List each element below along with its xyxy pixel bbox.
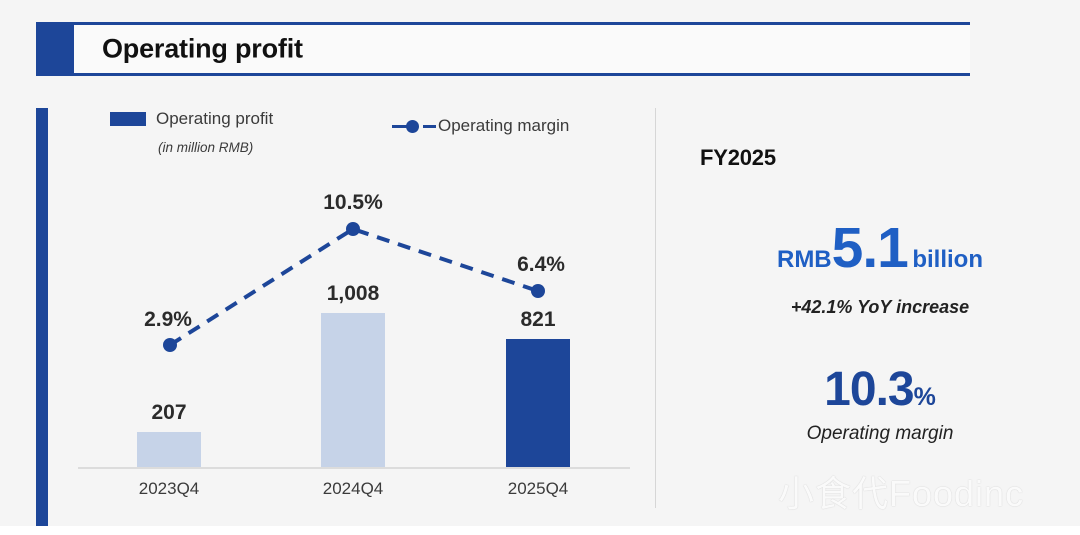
combo-chart: 207 1,008 821 2.9% 10.5% 6.4% 2023Q4 202…	[78, 170, 630, 510]
summary-panel: FY2025 RMB5.1 billion +42.1% YoY increas…	[700, 145, 1060, 445]
x-axis-label-2025Q4: 2025Q4	[508, 479, 569, 499]
kpi-yoy-change: +42.1% YoY increase	[700, 297, 1060, 318]
margin-marker-2023Q4	[163, 338, 177, 352]
bar-2024Q4: 1,008	[321, 313, 385, 467]
slide-canvas: Operating profit Operating profit (in mi…	[0, 0, 1080, 535]
legend-item-operating-margin: Operating margin	[392, 116, 569, 136]
slide-header: Operating profit	[36, 22, 970, 76]
x-axis-label-2024Q4: 2024Q4	[323, 479, 384, 499]
chart-legend: Operating profit (in million RMB) Operat…	[110, 112, 630, 164]
kpi-margin-percent-symbol: %	[914, 383, 936, 411]
kpi-margin-value: 10.3	[824, 363, 913, 416]
legend-label-operating-margin: Operating margin	[438, 116, 569, 136]
bar-value-2023Q4: 207	[151, 401, 186, 425]
kpi-margin-caption: Operating margin	[700, 423, 1060, 445]
bar-2025Q4: 821	[506, 339, 570, 467]
kpi-operating-profit: RMB5.1 billion	[700, 215, 1060, 281]
bar-value-2024Q4: 1,008	[327, 282, 380, 306]
legend-sublabel-units: (in million RMB)	[158, 140, 253, 155]
margin-marker-2025Q4	[531, 284, 545, 298]
header-accent-square	[36, 22, 74, 76]
margin-label-2023Q4: 2.9%	[144, 308, 192, 332]
section-divider	[655, 108, 656, 508]
margin-label-2025Q4: 6.4%	[517, 253, 565, 277]
watermark-text: 小食代Foodinc	[778, 465, 1024, 517]
kpi-currency-label: RMB	[777, 246, 832, 273]
kpi-operating-margin: 10.3%	[700, 362, 1060, 417]
header-bottom-rule	[48, 73, 970, 76]
page-title: Operating profit	[102, 34, 303, 65]
margin-label-2024Q4: 10.5%	[323, 191, 383, 215]
kpi-unit-label: billion	[912, 246, 983, 273]
legend-label-operating-profit: Operating profit	[156, 109, 273, 129]
x-axis-label-2023Q4: 2023Q4	[139, 479, 200, 499]
margin-marker-2024Q4	[346, 222, 360, 236]
left-accent-bar	[36, 108, 48, 527]
bar-2023Q4: 207	[137, 432, 201, 467]
panel-title-fy: FY2025	[700, 145, 1060, 171]
legend-line-marker-icon	[392, 119, 436, 133]
kpi-value: 5.1	[832, 216, 908, 280]
bottom-strip	[0, 526, 1080, 535]
legend-bar-swatch-icon	[110, 112, 146, 126]
legend-item-operating-profit: Operating profit	[110, 116, 273, 121]
bar-value-2025Q4: 821	[520, 308, 555, 332]
